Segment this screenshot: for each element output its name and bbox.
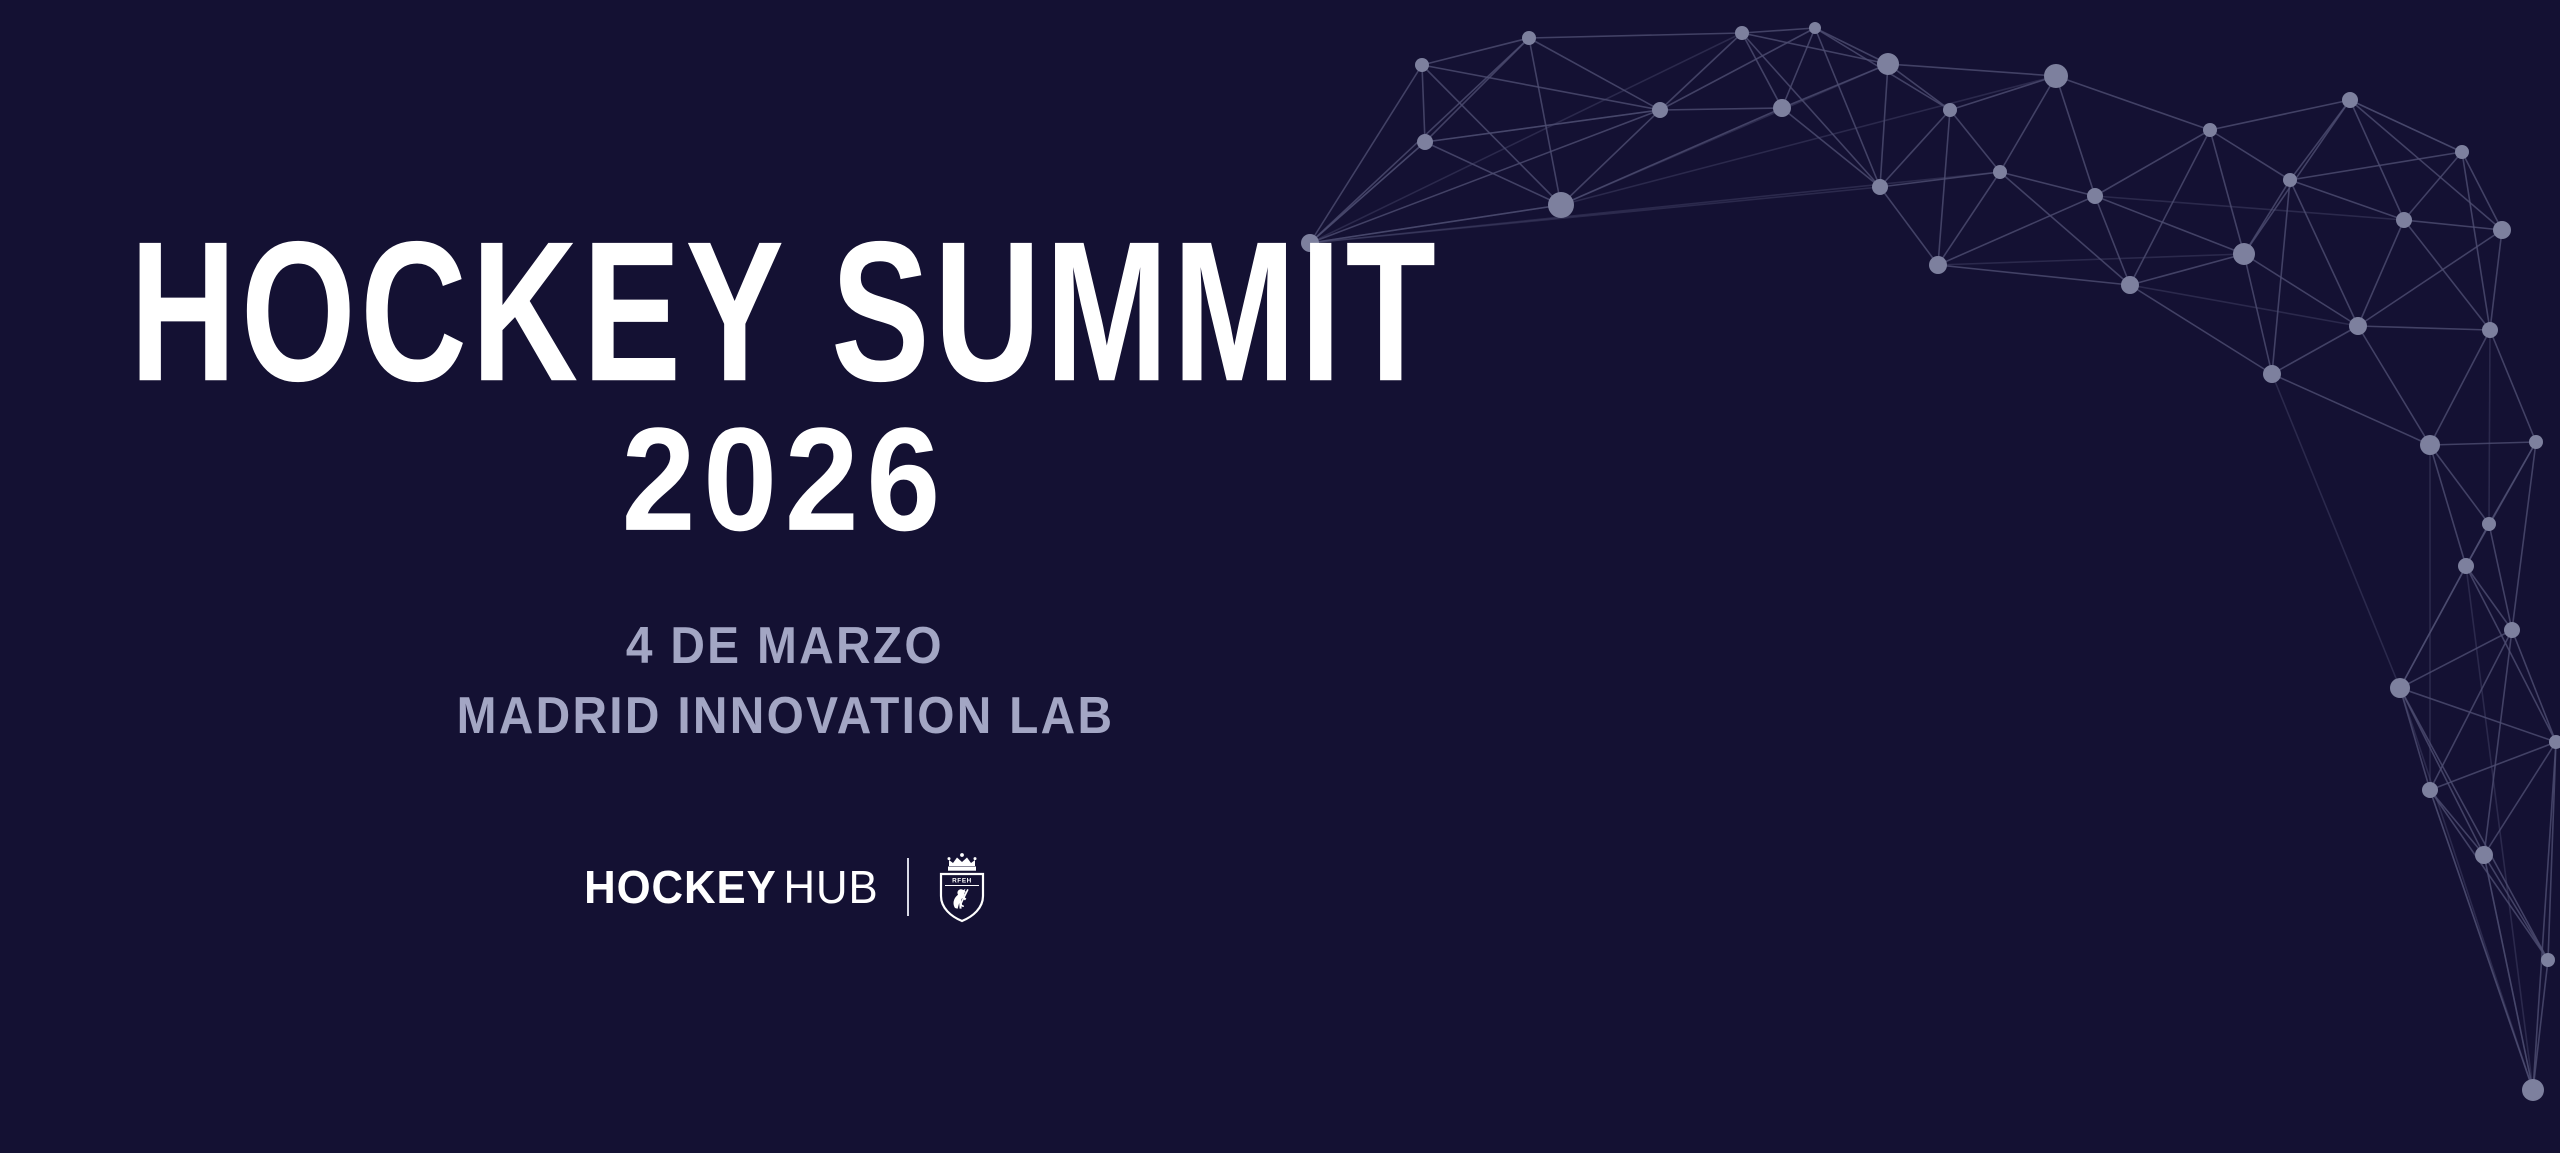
event-venue: MADRID INNOVATION LAB [456,688,1114,744]
hockeyhub-wordmark: HOCKEY HUB [579,864,882,910]
event-poster: HOCKEY SUMMIT 2026 4 DE MARZO MADRID INN… [0,0,2560,1153]
logo-lockup: HOCKEY HUB RFEH [579,856,992,918]
rfeh-crest-icon: RFEH [933,850,991,924]
poster-subtitle: 4 DE MARZO MADRID INNOVATION LAB [428,618,1143,744]
poster-content: HOCKEY SUMMIT 2026 4 DE MARZO MADRID INN… [0,0,1570,1153]
logo-divider [907,858,909,916]
wordmark-hub: HUB [784,864,879,910]
poster-title: HOCKEY SUMMIT 2026 [23,212,1547,546]
title-line-year: 2026 [622,406,948,553]
wordmark-hockey: HOCKEY [584,864,777,910]
crest-label: RFEH [953,878,973,885]
event-date: 4 DE MARZO [626,618,944,674]
title-line-primary: HOCKEY SUMMIT [130,212,1441,412]
